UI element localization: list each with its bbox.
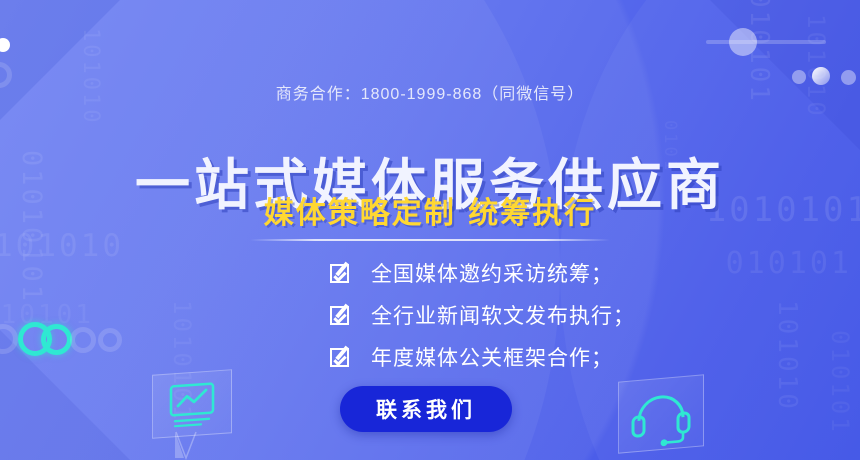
checkbox-checked-icon	[330, 306, 349, 325]
list-item-label: 全国媒体邀约采访统筹；	[371, 258, 613, 288]
promo-banner: 01010101 101010 101010 010101 1010101 10…	[0, 0, 860, 460]
feature-list: 全国媒体邀约采访统筹； 全行业新闻软文发布执行； 年度媒体公关框架合作；	[330, 252, 635, 378]
subtitle: 媒体策略定制 统筹执行	[0, 196, 860, 232]
list-item: 年度媒体公关框架合作；	[330, 336, 635, 378]
checkbox-checked-icon	[330, 348, 349, 367]
list-item-label: 年度媒体公关框架合作；	[371, 342, 613, 372]
list-item-label: 全行业新闻软文发布执行；	[371, 300, 635, 330]
list-item: 全行业新闻软文发布执行；	[330, 294, 635, 336]
checkbox-checked-icon	[330, 264, 349, 283]
divider	[250, 239, 610, 241]
list-item: 全国媒体邀约采访统筹；	[330, 252, 635, 294]
contact-us-button[interactable]: 联系我们	[340, 386, 512, 432]
contact-info: 商务合作：1800-1999-868（同微信号）	[0, 80, 860, 104]
